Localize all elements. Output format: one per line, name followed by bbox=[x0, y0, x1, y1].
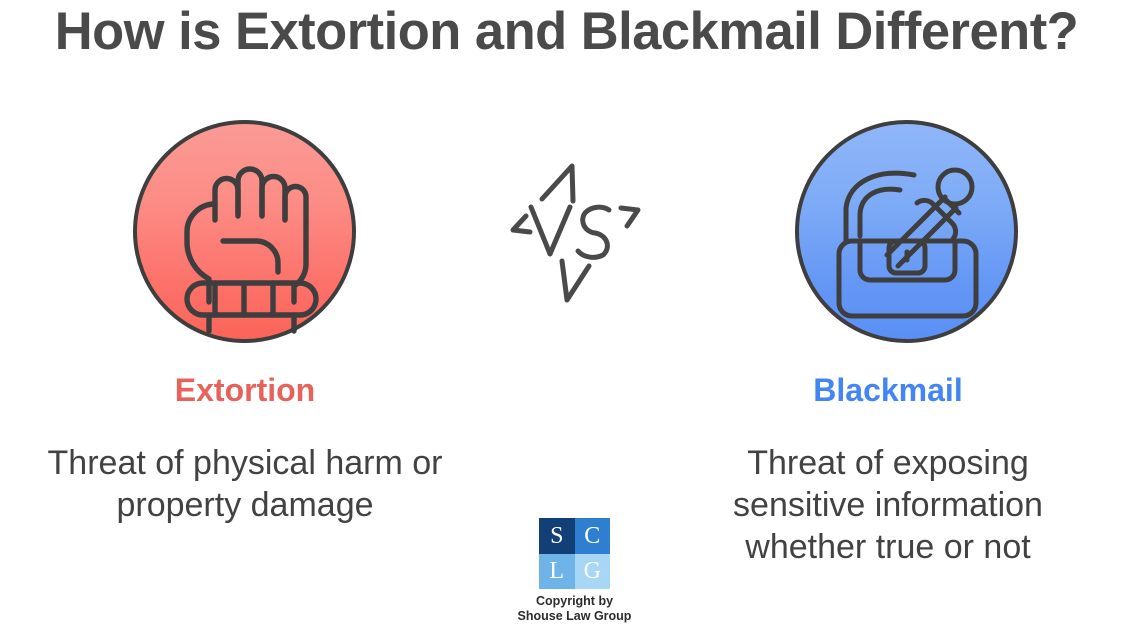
copyright-text: Copyright by Shouse Law Group bbox=[487, 594, 662, 624]
logo-cell-g: G bbox=[575, 554, 611, 590]
blackmail-icon-circle bbox=[795, 120, 1018, 343]
extortion-description: Threat of physical harm or property dama… bbox=[0, 442, 490, 526]
shouse-law-group-logo: S C L G bbox=[539, 518, 610, 589]
logo-cell-l: L bbox=[539, 554, 575, 590]
extortion-icon-circle bbox=[133, 120, 356, 343]
blackmail-description: Threat of exposing sensitive information… bbox=[643, 442, 1133, 568]
dagger-in-briefcase-icon bbox=[799, 124, 1014, 339]
logo-block: S C L G Copyright by Shouse Law Group bbox=[487, 518, 662, 624]
raised-fist-icon bbox=[137, 124, 352, 339]
versus-mark bbox=[505, 160, 650, 310]
versus-burst-icon bbox=[505, 160, 650, 310]
column-extortion: Extortion Threat of physical harm or pro… bbox=[0, 0, 490, 626]
logo-cell-c: C bbox=[575, 518, 611, 554]
infographic-canvas: How is Extortion and Blackmail Different… bbox=[0, 0, 1133, 626]
logo-cell-s: S bbox=[539, 518, 575, 554]
column-blackmail: Blackmail Threat of exposing sensitive i… bbox=[643, 0, 1133, 626]
extortion-term-label: Extortion bbox=[0, 370, 490, 410]
blackmail-term-label: Blackmail bbox=[643, 370, 1133, 410]
